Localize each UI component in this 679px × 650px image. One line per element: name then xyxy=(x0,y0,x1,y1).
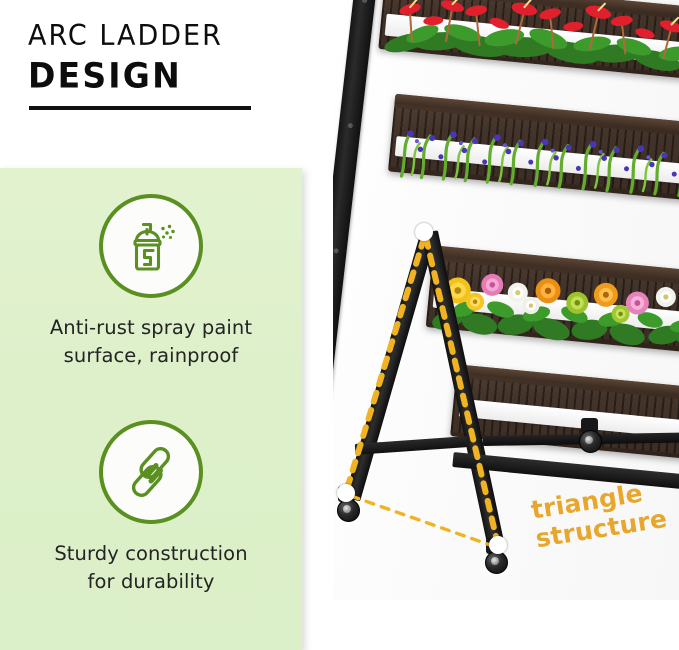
triangle-vertex-apex xyxy=(415,223,433,241)
bloom-orange-2 xyxy=(593,282,619,308)
bloom-orange xyxy=(535,277,562,304)
brand-name-primary: ARC LADDER xyxy=(28,22,288,50)
feature-caption-line1: Anti-rust spray paint xyxy=(14,314,288,342)
triangle-vertex-bottom-left xyxy=(337,484,355,502)
brand-name-secondary: DESIGN xyxy=(28,58,288,93)
product-feature-page: ARC LADDER DESIGN xyxy=(0,0,679,650)
brand-logo: ARC LADDER DESIGN xyxy=(28,22,288,91)
feature-caption-line2: surface, rainproof xyxy=(14,342,288,370)
feature-caption: Sturdy construction for durability xyxy=(0,540,302,595)
feature-icon-badge xyxy=(99,194,203,298)
feature-caption: Anti-rust spray paint surface, rainproof xyxy=(0,314,302,369)
triangle-vertex-bottom-right xyxy=(489,536,507,554)
feature-caption-line2: for durability xyxy=(14,568,288,596)
spray-dots xyxy=(161,225,174,239)
feature-caption-line1: Sturdy construction xyxy=(14,540,288,568)
spray-can-icon xyxy=(120,215,182,277)
feature-icon-badge xyxy=(99,420,203,524)
chain-link-icon xyxy=(120,441,182,503)
product-photo: triangle structure xyxy=(333,0,679,650)
feature-panel: Anti-rust spray paint surface, rainproof xyxy=(0,168,302,650)
bloom-white-2 xyxy=(655,286,676,307)
left-column: ARC LADDER DESIGN xyxy=(0,0,340,650)
brand-underline-divider xyxy=(29,106,251,110)
feature-item-sturdy: Sturdy construction for durability xyxy=(0,420,302,595)
feature-item-anti-rust: Anti-rust spray paint surface, rainproof xyxy=(0,194,302,369)
bloom-pink xyxy=(481,273,504,296)
